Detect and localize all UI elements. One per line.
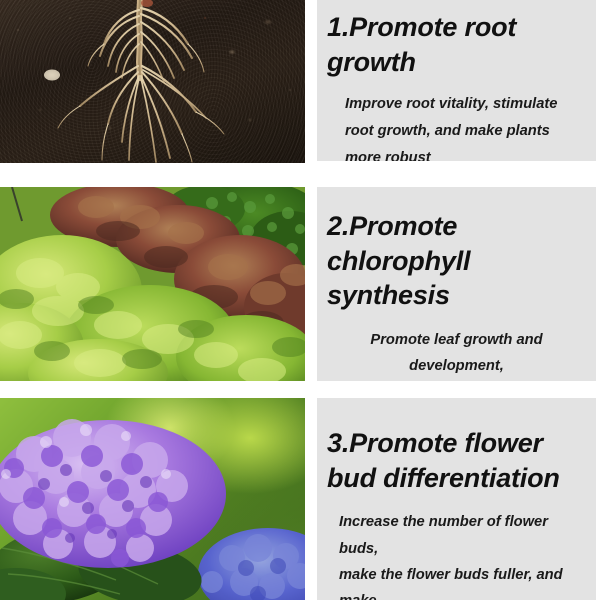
benefit-text-panel-2: 2.Promote chlorophyll synthesis Promote … (317, 187, 596, 381)
lettuce-bed-photo (0, 187, 305, 381)
benefit-section-3: 3.Promote flower bud differentiation Inc… (0, 398, 600, 600)
benefit-body-2: Promote leaf growth and development,impr… (317, 313, 596, 381)
benefit-section-2: 2.Promote chlorophyll synthesis Promote … (0, 187, 600, 381)
root-system-illustration (0, 0, 305, 163)
benefit-body-1-line-2: root growth, and make plants (345, 123, 550, 139)
lettuce-illustration (0, 187, 305, 381)
purple-hydrangea-bloom (0, 419, 226, 568)
benefit-section-1: 1.Promote root growth Improve root vital… (0, 0, 600, 163)
benefit-body-3-line-1: Increase the number of flower buds, (339, 514, 552, 556)
benefit-text-panel-1: 1.Promote root growth Improve root vital… (317, 0, 596, 161)
benefit-heading-2: 2.Promote chlorophyll synthesis (317, 187, 596, 313)
roots-in-soil-photo (0, 0, 305, 163)
benefit-body-3: Increase the number of flower buds,make … (317, 495, 596, 600)
benefit-infographic: 1.Promote root growth Improve root vital… (0, 0, 600, 600)
blue-hydrangea (198, 528, 305, 600)
benefit-text-panel-3: 3.Promote flower bud differentiation Inc… (317, 398, 596, 600)
benefit-body-2-line-1: Promote leaf growth and development, (370, 332, 546, 374)
benefit-body-1-line-3: more robust (345, 150, 431, 161)
benefit-heading-3: 3.Promote flower bud differentiation (317, 398, 596, 495)
benefit-body-1: Improve root vitality, stimulateroot gro… (317, 79, 596, 161)
benefit-body-1-line-1: Improve root vitality, stimulate (345, 96, 557, 112)
purple-hydrangea-photo (0, 398, 305, 600)
pebble-icon (44, 70, 60, 81)
hydrangea-illustration (0, 398, 305, 600)
benefit-heading-1: 1.Promote root growth (317, 0, 596, 79)
benefit-body-3-line-2: make the flower buds fuller, and make (339, 567, 567, 600)
